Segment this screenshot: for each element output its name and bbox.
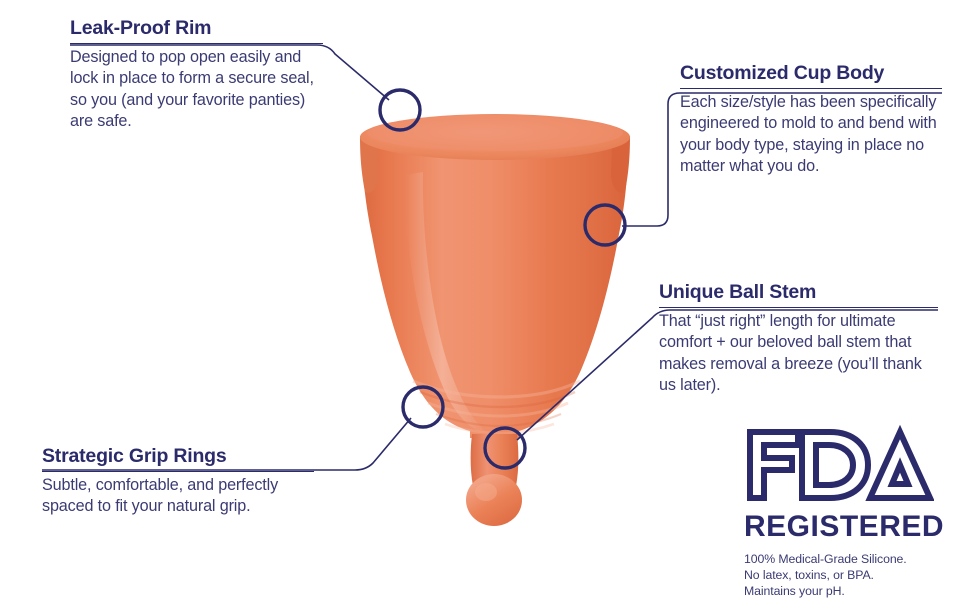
fineprint-line-2: No latex, toxins, or BPA. xyxy=(744,567,944,583)
marker-circle-body[interactable] xyxy=(585,205,625,245)
fda-registered-label: REGISTERED xyxy=(744,512,944,542)
marker-circle-grip-rings[interactable] xyxy=(403,387,443,427)
marker-circle-ball-stem[interactable] xyxy=(485,428,525,468)
fineprint-line-1: 100% Medical-Grade Silicone. xyxy=(744,551,944,567)
fineprint-line-3: Maintains your pH. xyxy=(744,583,944,599)
fda-fineprint: 100% Medical-Grade Silicone. No latex, t… xyxy=(744,551,944,600)
marker-circle-rim[interactable] xyxy=(380,90,420,130)
fda-registered-badge: REGISTERED 100% Medical-Grade Silicone. … xyxy=(744,424,944,600)
infographic-canvas: Leak-Proof Rim Designed to pop open easi… xyxy=(0,0,970,600)
fda-logo-icon xyxy=(744,424,934,504)
